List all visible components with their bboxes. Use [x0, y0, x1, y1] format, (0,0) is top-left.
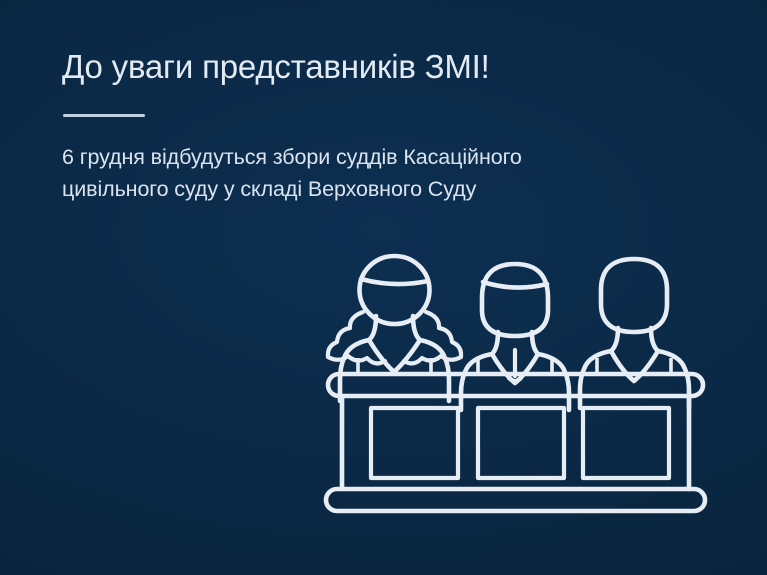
- judge-figure-center: [461, 264, 569, 410]
- title-divider: [63, 114, 145, 117]
- judge-figure-right: [580, 259, 689, 408]
- page-title: До уваги представників ЗМІ!: [62, 46, 722, 88]
- judges-bench: [326, 374, 705, 511]
- judges-bench-illustration: [318, 246, 713, 531]
- text-block: До уваги представників ЗМІ! 6 грудня від…: [62, 46, 722, 205]
- announcement-body: 6 грудня відбудуться збори суддів Касаці…: [62, 141, 722, 205]
- announcement-banner: До уваги представників ЗМІ! 6 грудня від…: [0, 0, 767, 575]
- judge-figure-left: [328, 256, 461, 401]
- announcement-body-line-1: 6 грудня відбудуться збори суддів Касаці…: [62, 141, 722, 173]
- announcement-body-line-2: цивільного суду у складі Верховного Суду: [62, 173, 722, 205]
